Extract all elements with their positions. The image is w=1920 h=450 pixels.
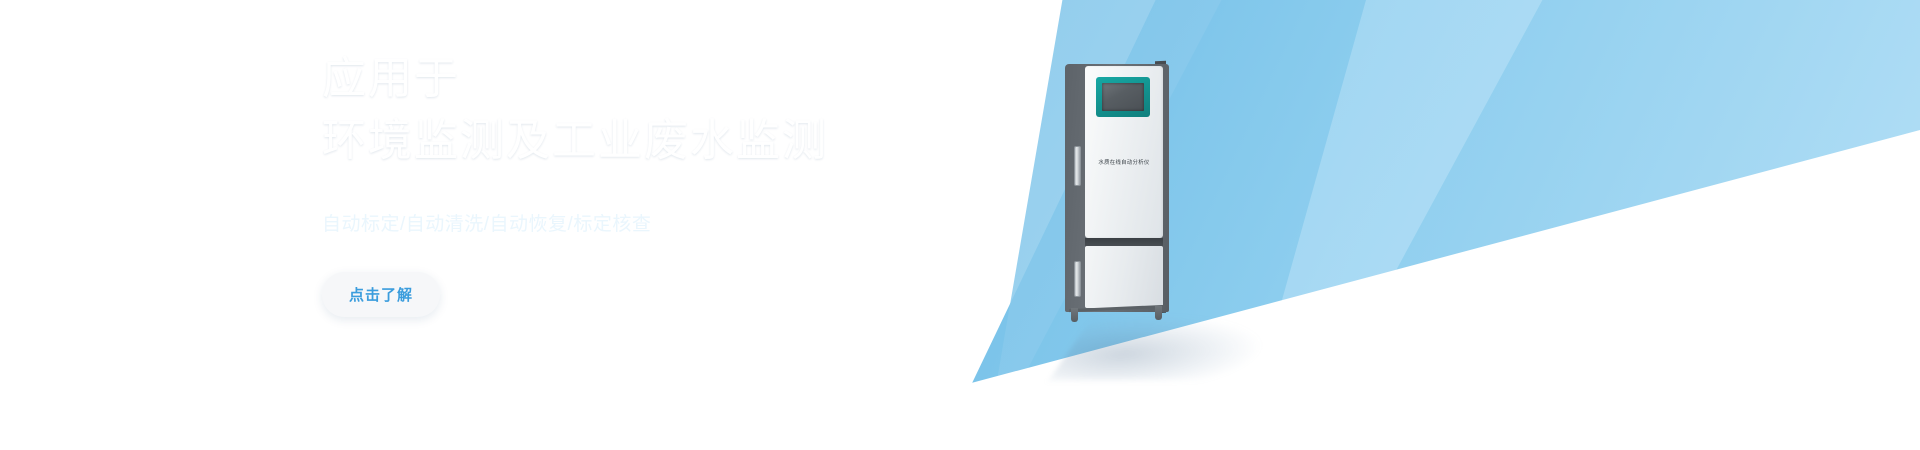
caster-left [1071, 308, 1078, 322]
hero-content: 应用于 环境监测及工业废水监测 自动标定/自动清洗/自动恢复/标定核查 点击了解 [322, 48, 1082, 317]
cabinet-lower-door [1085, 246, 1163, 308]
learn-more-button[interactable]: 点击了解 [322, 272, 440, 317]
caster-right [1155, 306, 1162, 320]
product-image-analyzer: 水质在线自动分析仪 [1055, 58, 1255, 388]
product-panel-label: 水质在线自动分析仪 [1085, 158, 1163, 166]
page-title: 应用于 环境监测及工业废水监测 [322, 48, 1082, 173]
product-shadow [1049, 316, 1282, 380]
hero-subtitle: 自动标定/自动清洗/自动恢复/标定核查 [322, 209, 1082, 236]
cabinet-handle-lower [1074, 261, 1081, 297]
cabinet-handle-upper [1074, 146, 1081, 186]
hero-banner: 应用于 环境监测及工业废水监测 自动标定/自动清洗/自动恢复/标定核查 点击了解… [0, 0, 1920, 450]
display-screen [1102, 83, 1144, 111]
cta-container: 点击了解 [322, 272, 1082, 317]
display-bezel [1096, 77, 1150, 117]
